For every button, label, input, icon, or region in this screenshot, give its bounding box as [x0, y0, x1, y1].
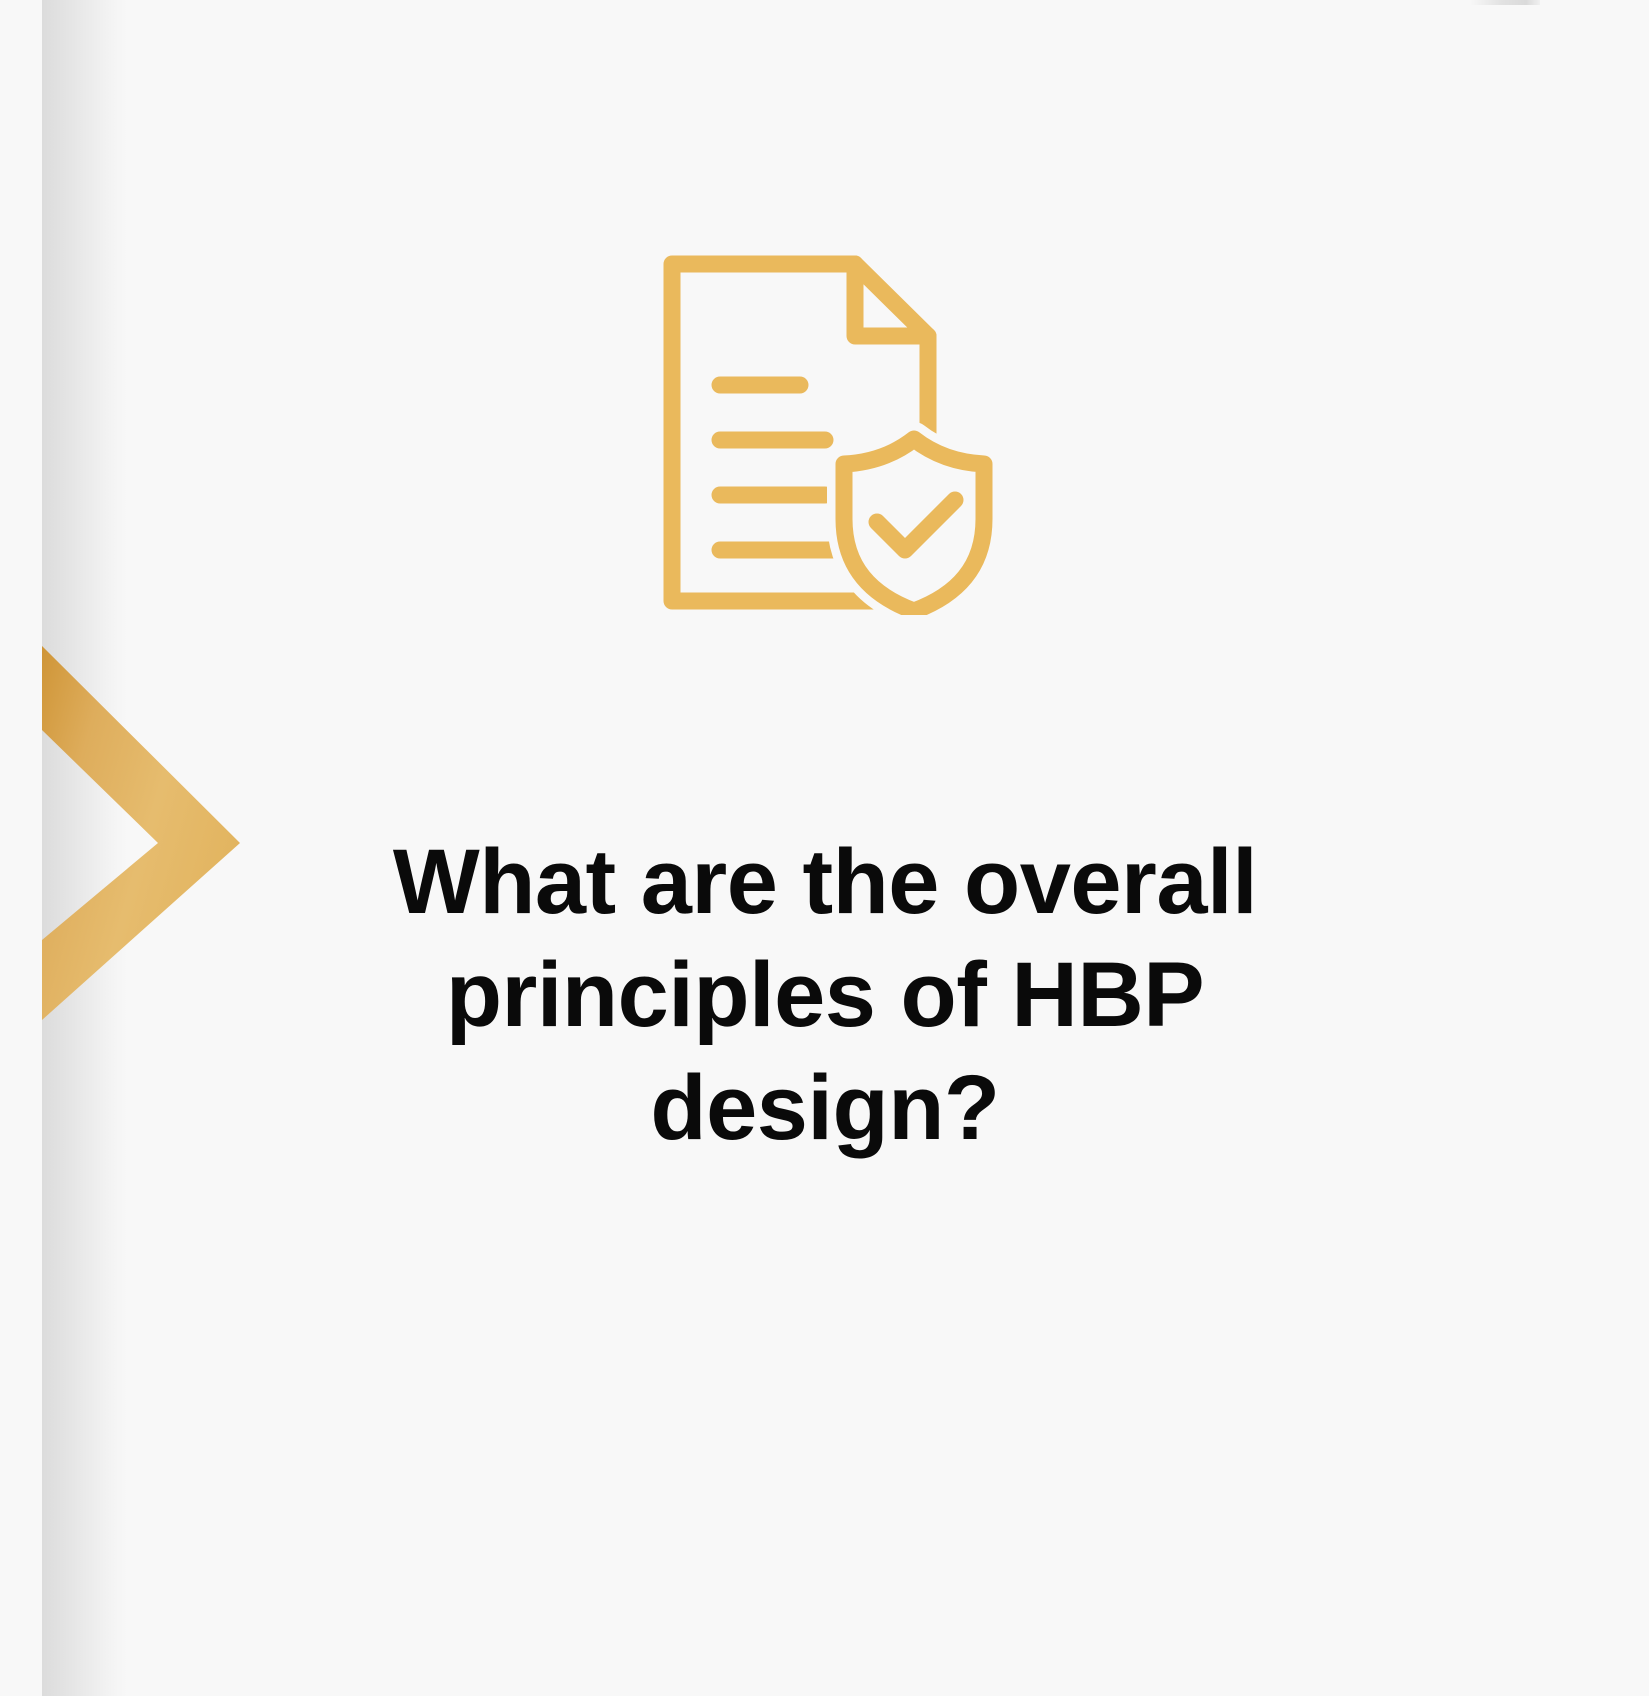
- top-edge-shadow-sliver: [1470, 0, 1540, 5]
- slide-canvas: What are the overall principles of HBP d…: [0, 0, 1649, 1696]
- heading-block: What are the overall principles of HBP d…: [330, 826, 1320, 1165]
- chevron-right-mark: [0, 600, 260, 1020]
- page-title: What are the overall principles of HBP d…: [330, 826, 1320, 1165]
- chevron-shape: [42, 646, 240, 1020]
- document-shield-check-icon: [650, 243, 1006, 615]
